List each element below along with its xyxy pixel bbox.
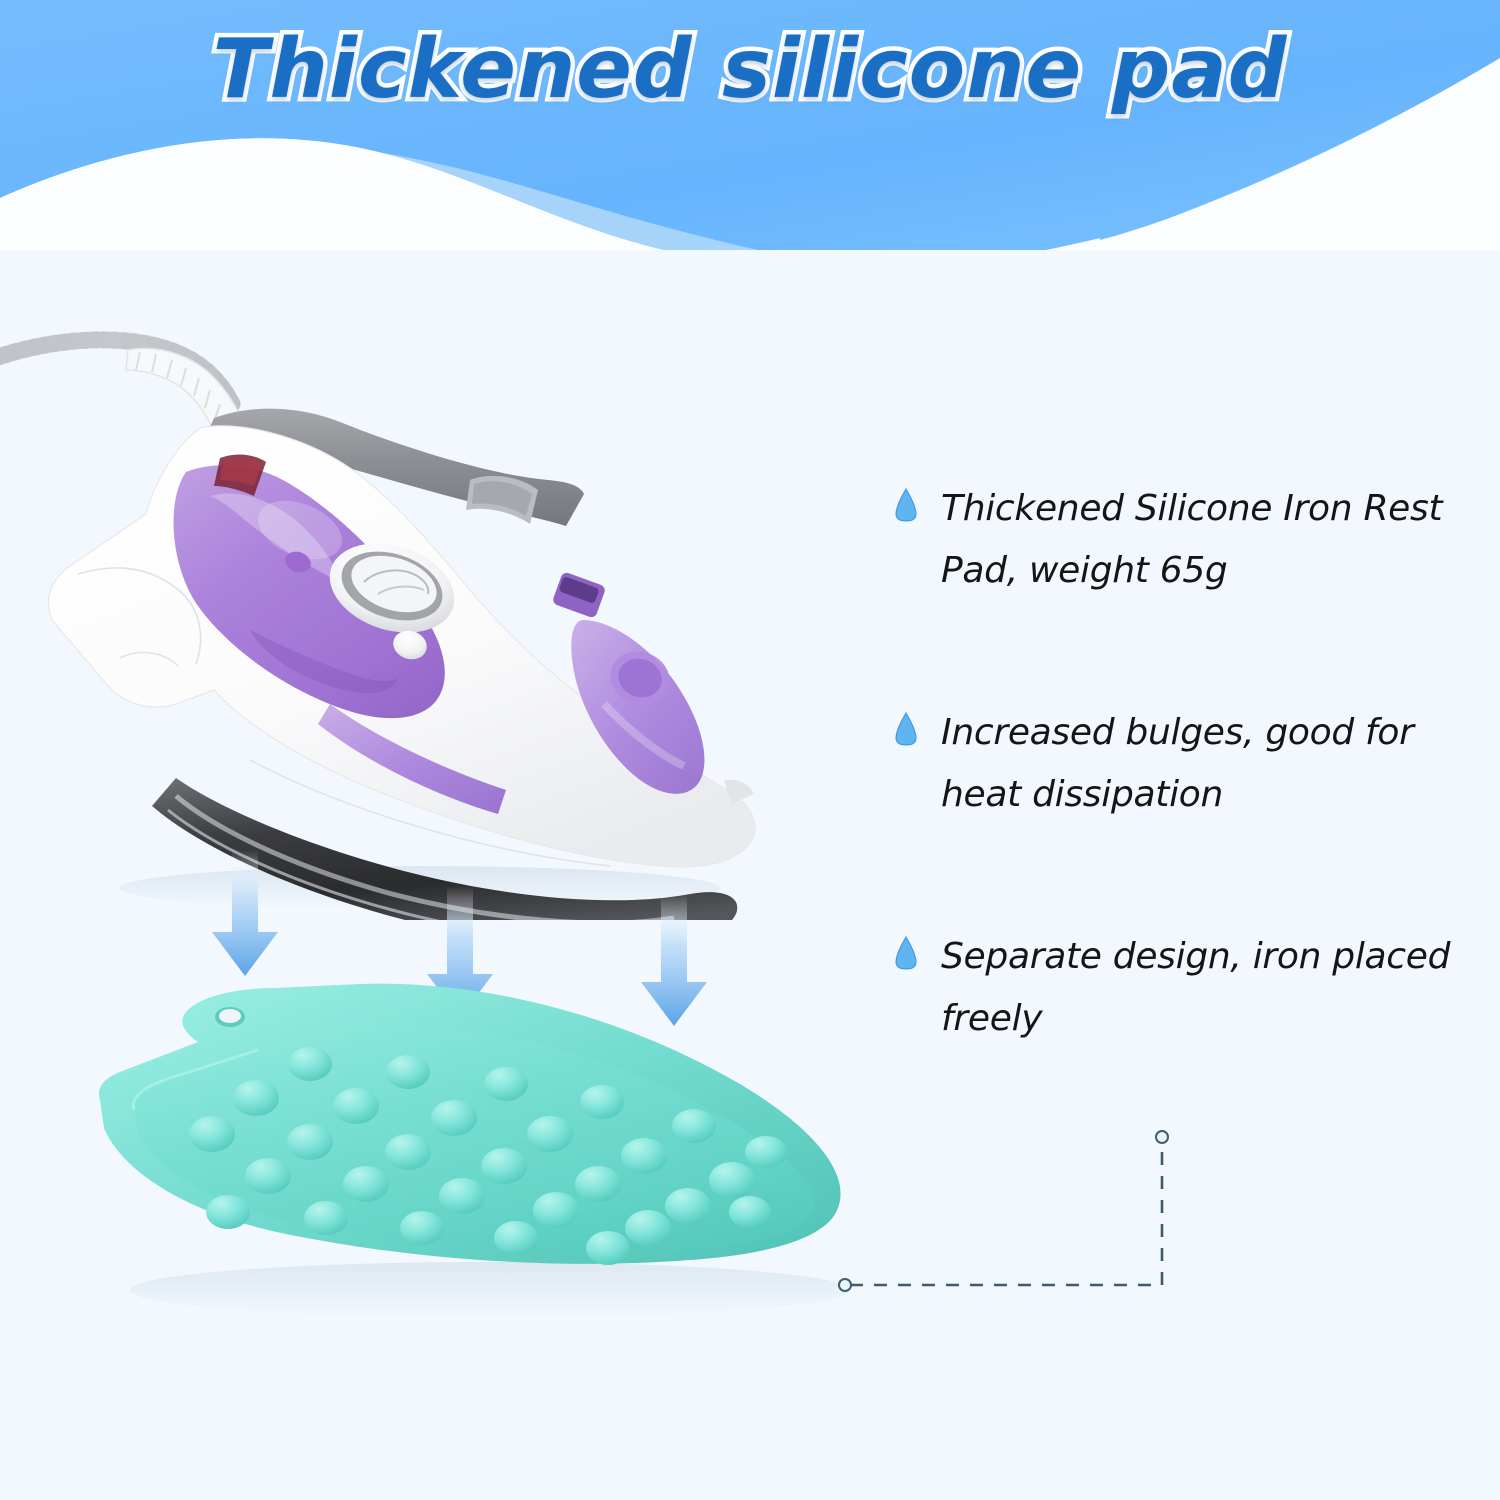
callout-marker-start: [839, 1279, 851, 1291]
callout-graphic: [820, 1110, 1240, 1330]
feature-item-2-label: Increased bulges, good for heat dissipat…: [941, 702, 1493, 826]
arrow-down-1: [212, 850, 278, 976]
pad-graphic: [60, 960, 900, 1330]
dimension-callout: [820, 1110, 1240, 1330]
steam-iron-graphic: [0, 300, 830, 920]
pad-shadow: [130, 1262, 850, 1318]
feature-item-2: Increased bulges, good for heat dissipat…: [893, 702, 1493, 826]
header-wave-graphic: [0, 0, 1500, 250]
steam-iron-image: [0, 300, 830, 920]
feature-item-3: Separate design, iron placed freely: [893, 926, 1493, 1050]
burst-steam-button[interactable]: [552, 571, 607, 619]
iron-soleplate-icon: [895, 488, 917, 522]
callout-marker-end: [1156, 1131, 1168, 1143]
feature-item-3-label: Separate design, iron placed freely: [941, 926, 1493, 1050]
callout-line: [850, 1142, 1162, 1285]
iron-soleplate-icon: [895, 936, 917, 970]
hanging-hole: [215, 1007, 245, 1027]
feature-item-1-label: Thickened Silicone Iron Rest Pad, weight…: [941, 478, 1493, 602]
silicone-iron-rest-pad: [60, 960, 900, 1330]
header-banner: Thickened silicone pad: [0, 0, 1500, 250]
feature-item-1: Thickened Silicone Iron Rest Pad, weight…: [893, 478, 1493, 602]
iron-soleplate-icon: [895, 712, 917, 746]
infographic-stage: Thickened silicone pad: [0, 0, 1500, 1500]
feature-list: Thickened Silicone Iron Rest Pad, weight…: [893, 478, 1493, 1049]
power-cord: [0, 340, 244, 438]
